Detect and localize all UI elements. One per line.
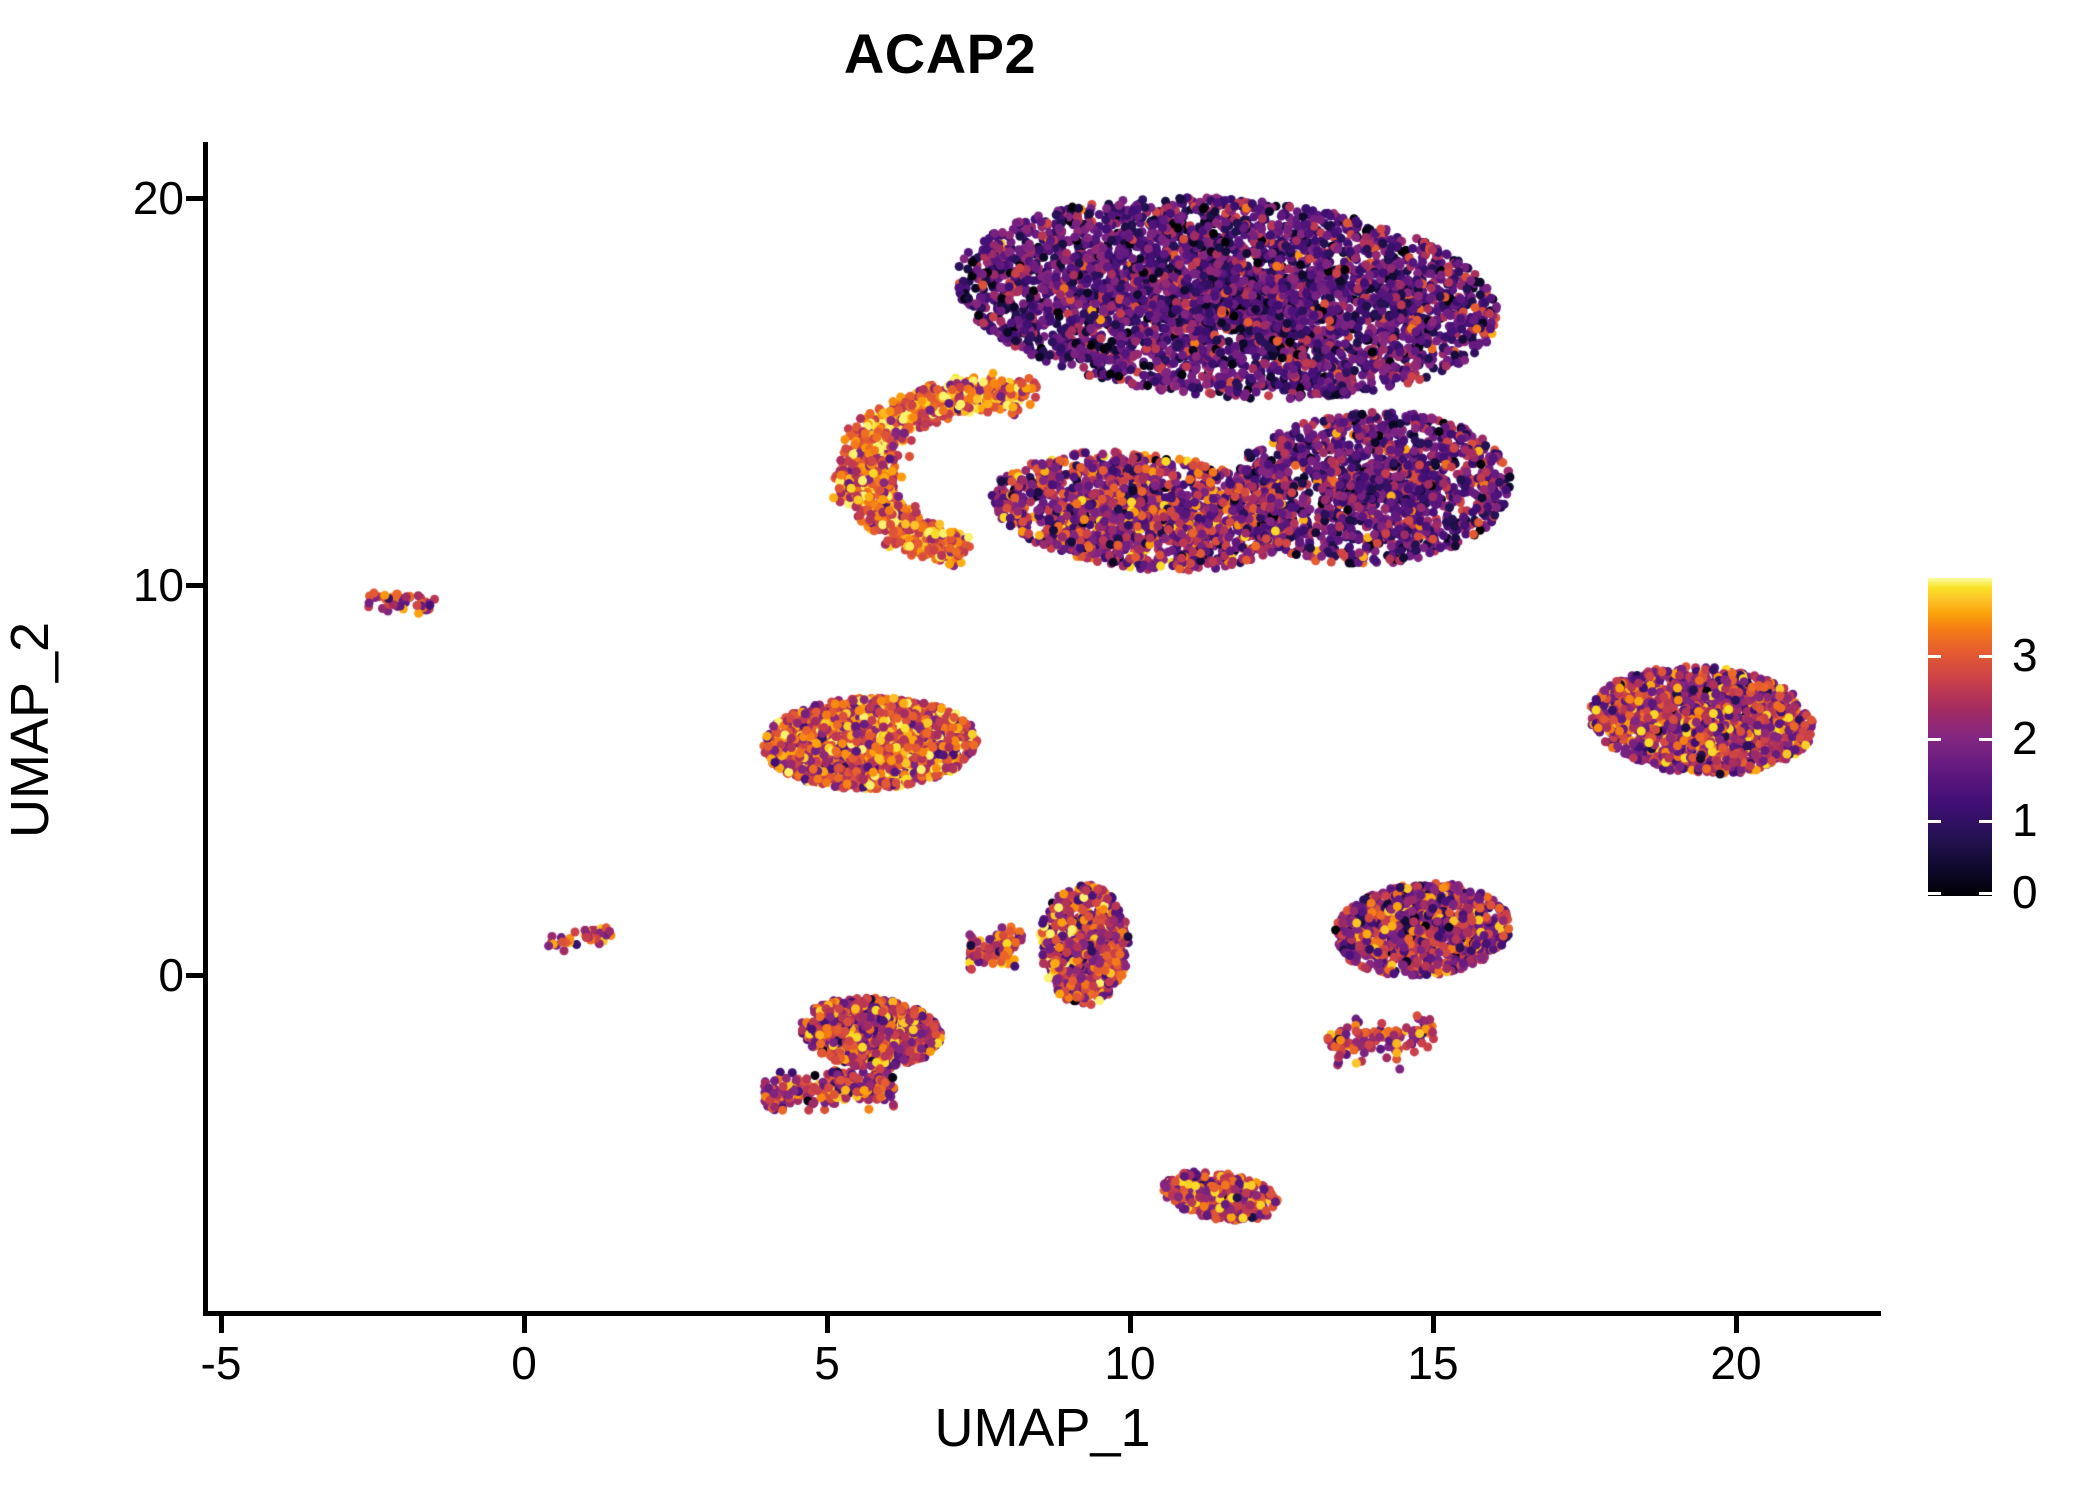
x-tick-mark-15	[1431, 1316, 1436, 1333]
colorbar-tick-2-right	[1979, 738, 1992, 741]
x-tick-label-5: 5	[727, 1340, 927, 1386]
x-tick-label-15: 15	[1333, 1340, 1533, 1386]
colorbar-label-2: 2	[2012, 715, 2038, 761]
colorbar-tick-1-right	[1979, 820, 1992, 823]
x-tick-label-10: 10	[1030, 1340, 1230, 1386]
x-tick-label-20: 20	[1636, 1340, 1836, 1386]
x-tick-mark-5	[825, 1316, 830, 1333]
y-tick-mark-0	[186, 973, 203, 978]
x-tick-mark-10	[1128, 1316, 1133, 1333]
x-axis-line	[203, 1311, 1881, 1316]
x-axis-title: UMAP_1	[205, 1398, 1880, 1458]
x-tick-label-0: 0	[424, 1340, 624, 1386]
scatter-plot-canvas	[205, 142, 1880, 1314]
colorbar-label-3: 3	[2012, 632, 2038, 678]
colorbar-tick-2-left	[1928, 738, 1941, 741]
x-tick-mark-0	[522, 1316, 527, 1333]
colorbar-tick-3-right	[1979, 655, 1992, 658]
colorbar-tick-3-left	[1928, 655, 1941, 658]
y-tick-mark-10	[186, 583, 203, 588]
y-tick-mark-20	[186, 196, 203, 201]
y-axis-line	[203, 142, 208, 1316]
colorbar-tick-0-left	[1928, 892, 1941, 895]
page-title: ACAP2	[0, 22, 1880, 86]
colorbar-tick-0-right	[1979, 892, 1992, 895]
colorbar-label-0: 0	[2012, 869, 2038, 915]
colorbar-gradient	[1928, 578, 1992, 896]
plot-panel	[205, 142, 1880, 1314]
colorbar-tick-1-left	[1928, 820, 1941, 823]
x-tick-mark-20	[1734, 1316, 1739, 1333]
x-tick-mark-neg5	[219, 1316, 224, 1333]
x-tick-label-neg5: -5	[121, 1340, 321, 1386]
colorbar-label-1: 1	[2012, 797, 2038, 843]
feature-plot-root: ACAP2 20 10 0 -5 0 5 10 15 20 UMAP_1 UMA…	[0, 0, 2100, 1500]
colorbar-legend: 3 2 1 0	[1928, 578, 2078, 898]
y-axis-title: UMAP_2	[0, 144, 60, 1316]
